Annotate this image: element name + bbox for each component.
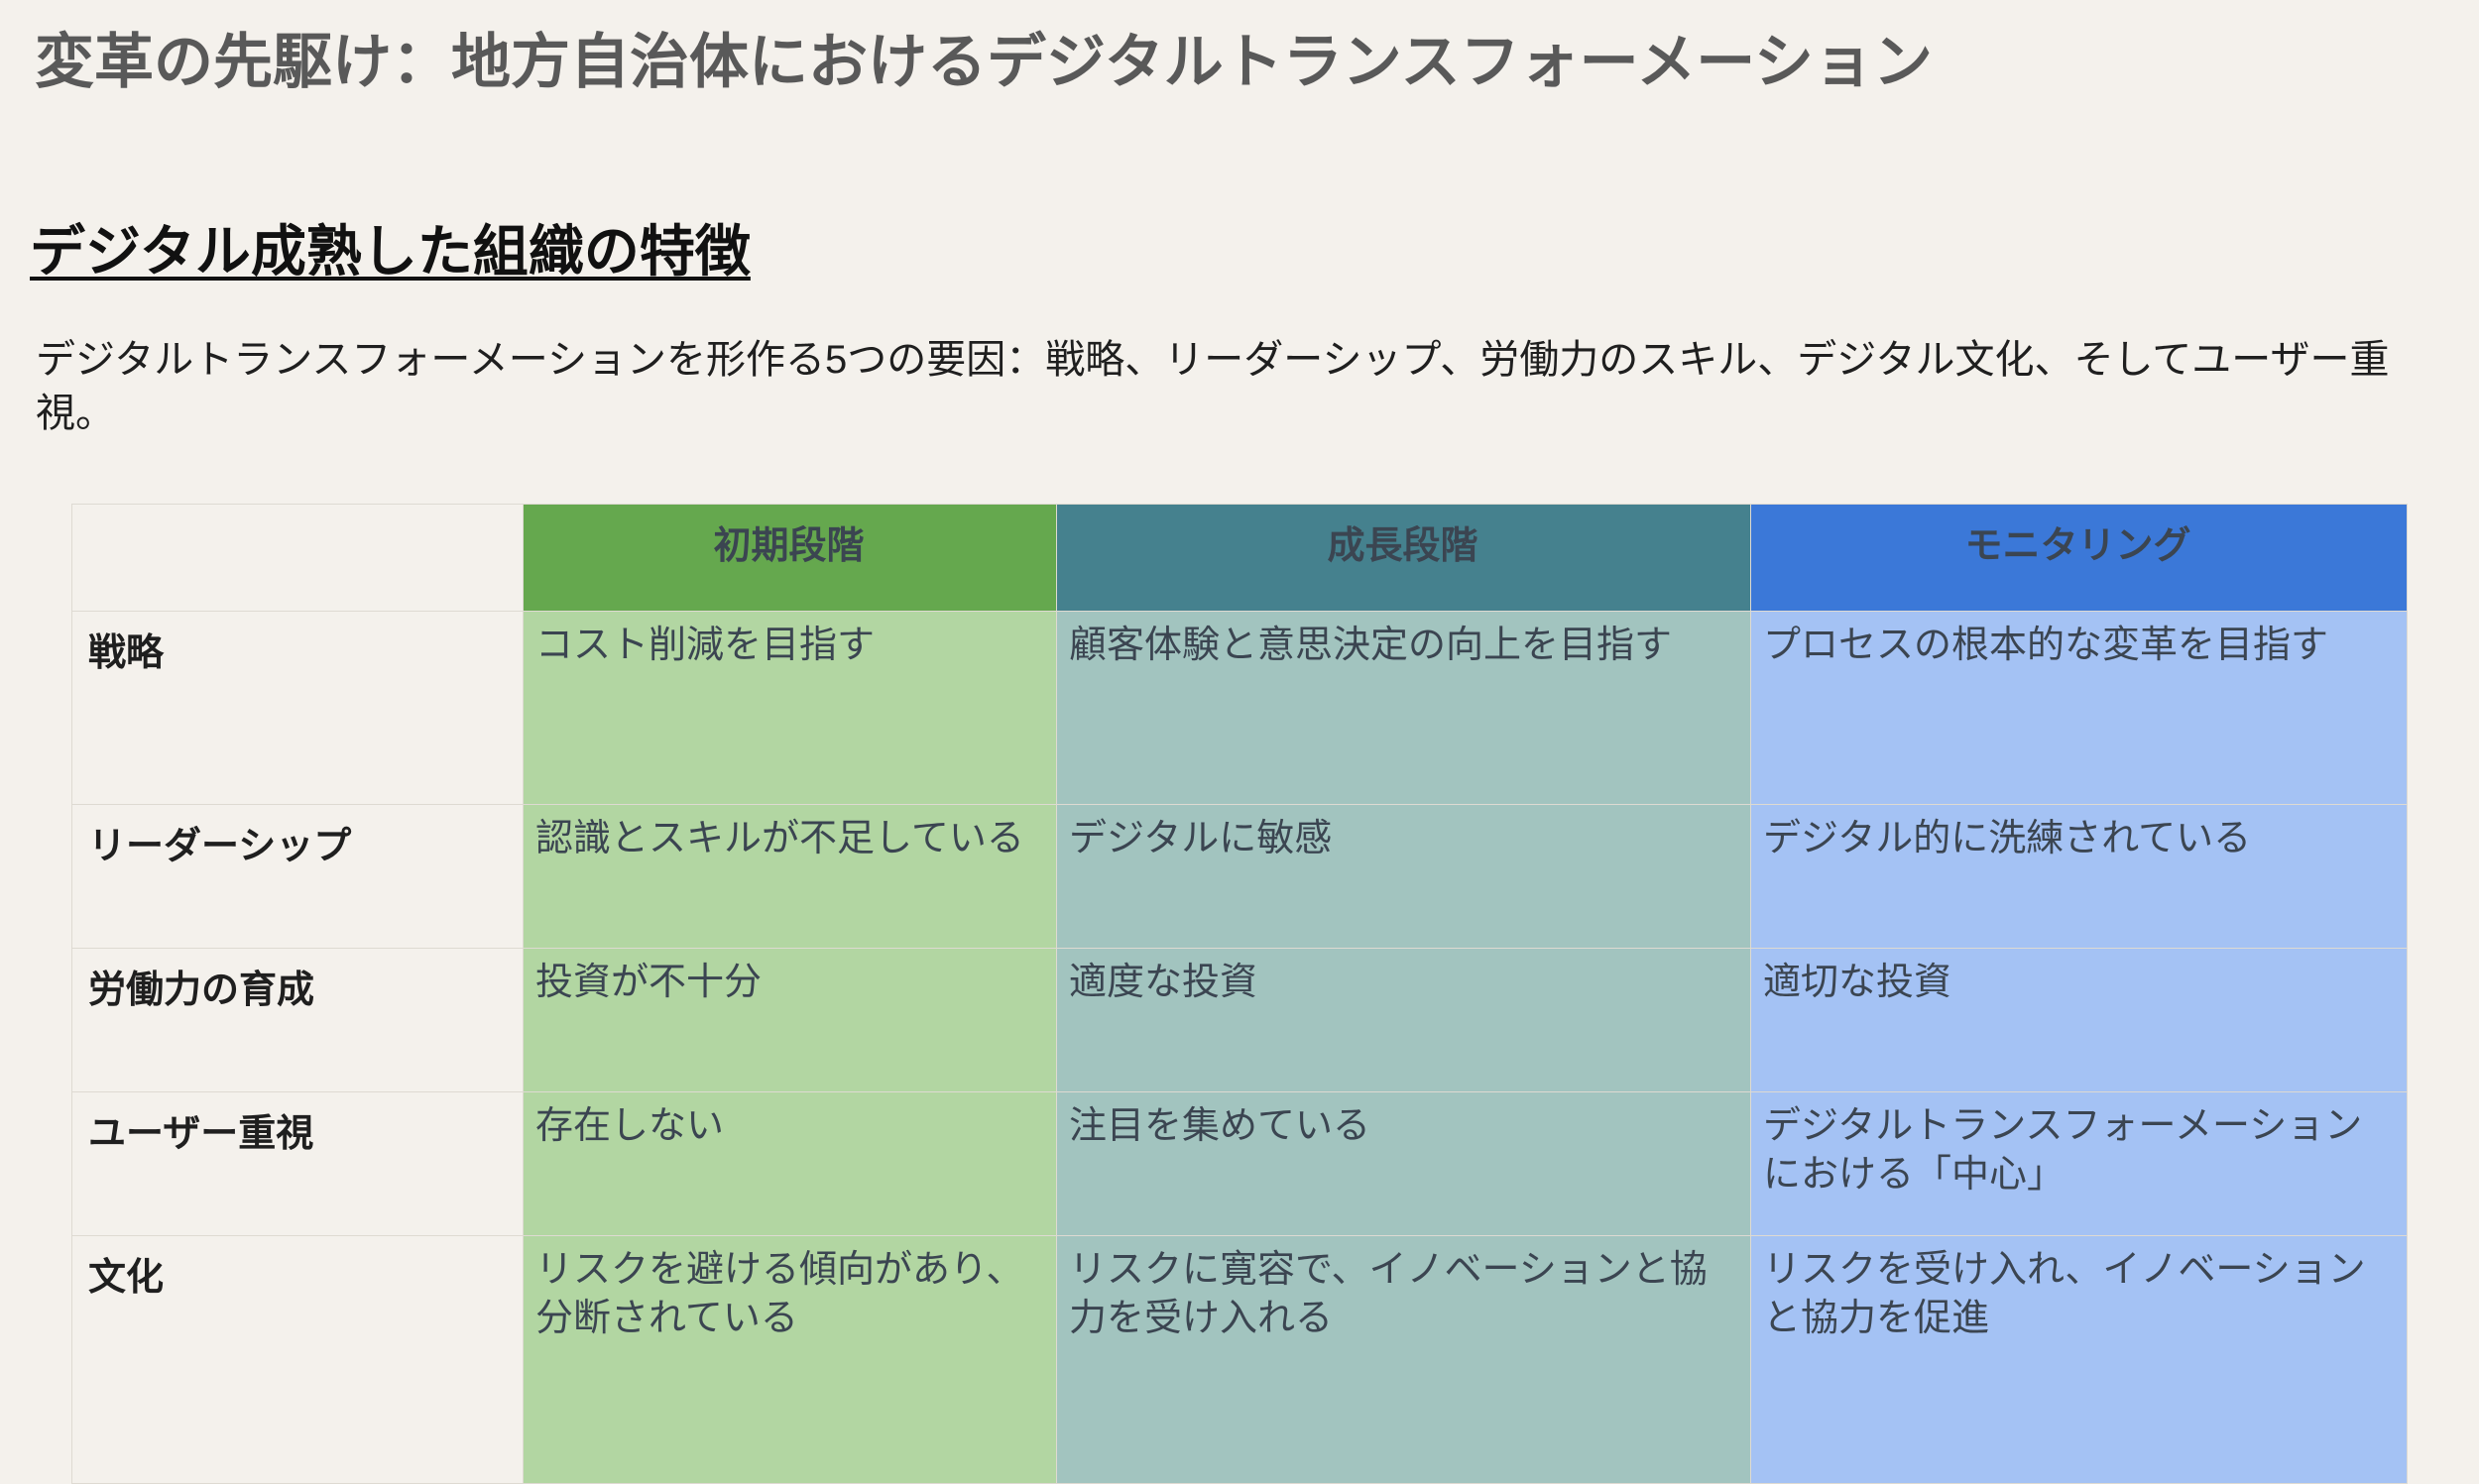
intro-paragraph: デジタルトランスフォーメーションを形作る5つの要因：戦略、リーダーシップ、労働力… bbox=[36, 333, 2455, 440]
table-row: 労働力の育成 投資が不十分 適度な投資 適切な投資 bbox=[72, 949, 2408, 1092]
table-body: 戦略 コスト削減を目指す 顧客体験と意思決定の向上を目指す プロセスの根本的な変… bbox=[72, 612, 2408, 1484]
cell-leadership-initial: 認識とスキルが不足している bbox=[524, 805, 1057, 949]
cell-user-focus-initial: 存在しない bbox=[524, 1092, 1057, 1236]
cell-culture-monitoring: リスクを受け入れ、イノベーションと協力を促進 bbox=[1751, 1236, 2408, 1484]
column-header-growth: 成長段階 bbox=[1057, 505, 1751, 612]
table-row: ユーザー重視 存在しない 注目を集めている デジタルトランスフォーメーションにお… bbox=[72, 1092, 2408, 1236]
section-heading: デジタル成熟した組織の特徴 bbox=[30, 220, 751, 284]
cell-workforce-monitoring: 適切な投資 bbox=[1751, 949, 2408, 1092]
cell-culture-growth: リスクに寛容で、イノベーションと協力を受け入れる bbox=[1057, 1236, 1751, 1484]
cell-workforce-growth: 適度な投資 bbox=[1057, 949, 1751, 1092]
cell-strategy-monitoring: プロセスの根本的な変革を目指す bbox=[1751, 612, 2408, 805]
slide-page: 変革の先駆け：地方自治体におけるデジタルトランスフォーメーション デジタル成熟し… bbox=[0, 0, 2479, 1395]
cell-workforce-initial: 投資が不十分 bbox=[524, 949, 1057, 1092]
cell-strategy-growth: 顧客体験と意思決定の向上を目指す bbox=[1057, 612, 1751, 805]
cell-strategy-initial: コスト削減を目指す bbox=[524, 612, 1057, 805]
row-label-strategy: 戦略 bbox=[72, 612, 524, 805]
cell-user-focus-monitoring: デジタルトランスフォーメーションにおける「中心」 bbox=[1751, 1092, 2408, 1236]
table-header-row: 初期段階 成長段階 モニタリング bbox=[72, 505, 2408, 612]
cell-leadership-monitoring: デジタル的に洗練されている bbox=[1751, 805, 2408, 949]
maturity-matrix-table: 初期段階 成長段階 モニタリング 戦略 コスト削減を目指す 顧客体験と意思決定の… bbox=[71, 504, 2408, 1484]
table-corner-cell bbox=[72, 505, 524, 612]
cell-leadership-growth: デジタルに敏感 bbox=[1057, 805, 1751, 949]
cell-user-focus-growth: 注目を集めている bbox=[1057, 1092, 1751, 1236]
cell-culture-initial: リスクを避ける傾向があり、分断されている bbox=[524, 1236, 1057, 1484]
table-row: リーダーシップ 認識とスキルが不足している デジタルに敏感 デジタル的に洗練され… bbox=[72, 805, 2408, 949]
row-label-user-focus: ユーザー重視 bbox=[72, 1092, 524, 1236]
table-row: 文化 リスクを避ける傾向があり、分断されている リスクに寛容で、イノベーションと… bbox=[72, 1236, 2408, 1484]
table-row: 戦略 コスト削減を目指す 顧客体験と意思決定の向上を目指す プロセスの根本的な変… bbox=[72, 612, 2408, 805]
row-label-culture: 文化 bbox=[72, 1236, 524, 1484]
column-header-monitoring: モニタリング bbox=[1751, 505, 2408, 612]
row-label-leadership: リーダーシップ bbox=[72, 805, 524, 949]
table-header: 初期段階 成長段階 モニタリング bbox=[72, 505, 2408, 612]
page-title: 変革の先駆け：地方自治体におけるデジタルトランスフォーメーション bbox=[35, 28, 1933, 96]
row-label-workforce: 労働力の育成 bbox=[72, 949, 524, 1092]
column-header-initial: 初期段階 bbox=[524, 505, 1057, 612]
